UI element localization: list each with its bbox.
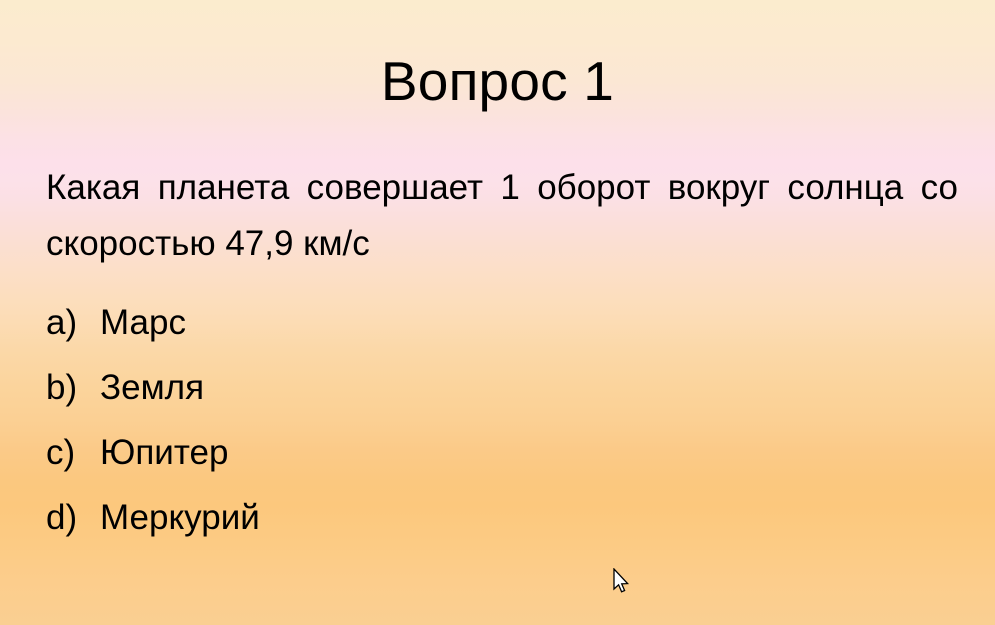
- answer-options-list: a) Марс b) Земля c) Юпитер d) Меркурий: [46, 290, 958, 550]
- answer-option-b[interactable]: b) Земля: [46, 355, 958, 420]
- option-label-c: Юпитер: [100, 420, 228, 485]
- question-text: Какая планета совершает 1 оборот вокруг …: [46, 160, 958, 272]
- option-marker-c: c): [46, 420, 94, 485]
- slide-body: Какая планета совершает 1 оборот вокруг …: [46, 160, 958, 550]
- arrow-pointer-icon: [612, 568, 632, 596]
- option-marker-b: b): [46, 355, 94, 420]
- answer-option-a[interactable]: a) Марс: [46, 290, 958, 355]
- option-label-d: Меркурий: [100, 485, 260, 550]
- presentation-slide: Вопрос 1 Какая планета совершает 1 оборо…: [0, 0, 995, 625]
- answer-option-d[interactable]: d) Меркурий: [46, 485, 958, 550]
- option-marker-d: d): [46, 485, 94, 550]
- option-label-a: Марс: [100, 290, 186, 355]
- page-title: Вопрос 1: [0, 48, 995, 114]
- option-label-b: Земля: [100, 355, 204, 420]
- answer-option-c[interactable]: c) Юпитер: [46, 420, 958, 485]
- option-marker-a: a): [46, 290, 94, 355]
